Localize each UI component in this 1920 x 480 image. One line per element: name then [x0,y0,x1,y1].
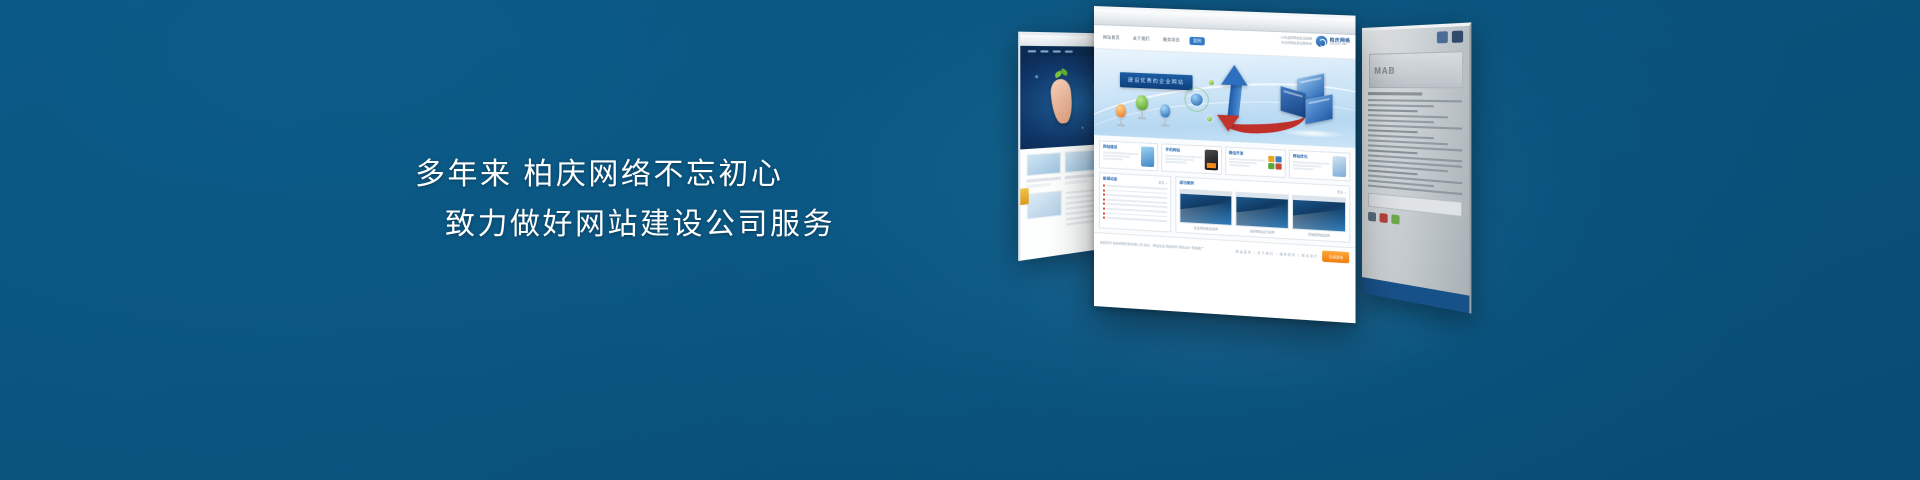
site-nav: 网站首页 关于我们 服务项目 案例 [1100,33,1205,45]
logo-subtitle: BAIQING NET [1330,43,1350,47]
news-panel-title: 新闻动态 [1103,176,1117,182]
nav-item-cases[interactable]: 案例 [1190,36,1205,45]
gallery-item[interactable]: 品牌网站设计案例 [1235,192,1289,236]
footer-copyright: 版权所有 柏庆网络科技有限公司 地址：网站建设 网站制作 网站设计 网络推广 [1100,240,1204,251]
consult-button[interactable]: 在线咨询 [1323,251,1350,264]
center-website-screen: 网站首页 关于我们 服务项目 案例 10年品牌网站建设经验 专业的网站建设服务商… [1094,6,1356,323]
nav-item-about[interactable]: 关于我们 [1130,34,1153,43]
service-card-title: 网站建设 [1103,144,1138,151]
header-tagline: 10年品牌网站建设经验 专业的网站建设服务商 [1281,35,1312,45]
footer-links[interactable]: 网站首页 | 关于我们 | 服务项目 | 联系我们 [1235,249,1318,258]
hand-illustration [1049,78,1073,125]
service-card[interactable]: 手机网站 [1161,143,1221,174]
document-icon [1333,156,1347,177]
footer-right: 网站首页 | 关于我们 | 服务项目 | 联系我们 在线咨询 [1235,245,1349,263]
headline-line-2: 致力做好网站建设公司服务 [445,210,975,240]
hero-cubes-graphic [1281,75,1341,131]
left-thumb-item [1027,152,1061,188]
case-gallery-panel: 成功案例 更多 + 企业网站建设案例 品牌网站设计案例 [1175,176,1350,243]
hero-figure-orange [1116,104,1126,127]
news-more-link[interactable]: 更多 + [1159,180,1168,184]
right-screen-link-list [1362,92,1469,196]
hero-arrow-down-icon [1217,115,1239,132]
nav-item-home[interactable]: 网站首页 [1100,33,1123,42]
screens-stage: MAB 网站首页 关于我们 服务项 [1010,6,1480,336]
gallery-item-caption: 营销型网站案例 [1292,231,1346,238]
hero-slider[interactable]: 建设优秀的企业网站 [1094,49,1356,148]
hero-title: 建设优秀的企业网站 [1120,72,1192,90]
right-website-screen: MAB [1362,22,1471,313]
news-list-item[interactable] [1103,217,1167,223]
hero-orb-small-bottom [1207,116,1212,121]
hero-arrow-up-icon [1221,64,1248,85]
gallery-item-caption: 品牌网站设计案例 [1235,228,1289,235]
service-card[interactable]: 网站优化 [1289,150,1351,182]
calendar-icon [1437,31,1448,43]
service-card[interactable]: 微信开发 [1225,147,1286,179]
service-card-title: 微信开发 [1229,151,1265,158]
gallery-item[interactable]: 企业网站建设案例 [1179,189,1232,232]
hero-banner: 多年来 柏庆网络不忘初心 致力做好网站建设公司服务 [0,0,1920,480]
service-card-title: 手机网站 [1165,148,1201,155]
right-screen-logo: MAB [1369,51,1463,88]
nav-item-services[interactable]: 服务项目 [1160,35,1183,44]
right-screen-logo-text: MAB [1374,65,1395,75]
news-panel: 新闻动态 更多 + [1099,172,1171,232]
gallery-more-link[interactable]: 更多 + [1337,189,1346,194]
headline-line-1: 多年来 柏庆网络不忘初心 [415,160,975,190]
header-tagline-sub: 专业的网站建设服务商 [1281,40,1312,46]
service-card-title: 网站优化 [1293,154,1330,161]
logo-mark-icon [1316,36,1327,48]
gallery-row: 企业网站建设案例 品牌网站设计案例 营销型网站案例 [1179,189,1346,239]
news-panel-header: 新闻动态 更多 + [1103,176,1167,184]
app-icon [1452,30,1463,42]
mobile-icon [1204,150,1217,171]
gallery-item-caption: 企业网站建设案例 [1179,225,1232,232]
left-thumb-item [1064,150,1096,185]
hero-orb-small-top [1209,80,1214,85]
hero-figure-blue [1160,104,1170,127]
phone-icon [1141,146,1154,167]
button-icon [1368,212,1376,222]
hero-figure-green [1136,95,1148,120]
gallery-item[interactable]: 营销型网站案例 [1292,195,1346,239]
grid-icon [1268,156,1281,170]
right-screen-footer [1362,277,1469,313]
hero-orb-large [1191,93,1203,106]
service-card[interactable]: 网站建设 [1099,140,1158,171]
gallery-panel-title: 成功案例 [1179,181,1194,187]
check-icon [1391,214,1399,224]
right-screen-toolbar [1362,26,1469,53]
left-profile-image [1027,190,1062,234]
header-right: 10年品牌网站建设经验 专业的网站建设服务商 柏庆网络 BAIQING NET [1281,34,1351,48]
left-screen-side-tab [1018,188,1029,206]
record-icon [1380,213,1388,223]
headline-block: 多年来 柏庆网络不忘初心 致力做好网站建设公司服务 [415,160,975,240]
news-list [1103,184,1167,222]
site-logo[interactable]: 柏庆网络 BAIQING NET [1316,36,1350,49]
